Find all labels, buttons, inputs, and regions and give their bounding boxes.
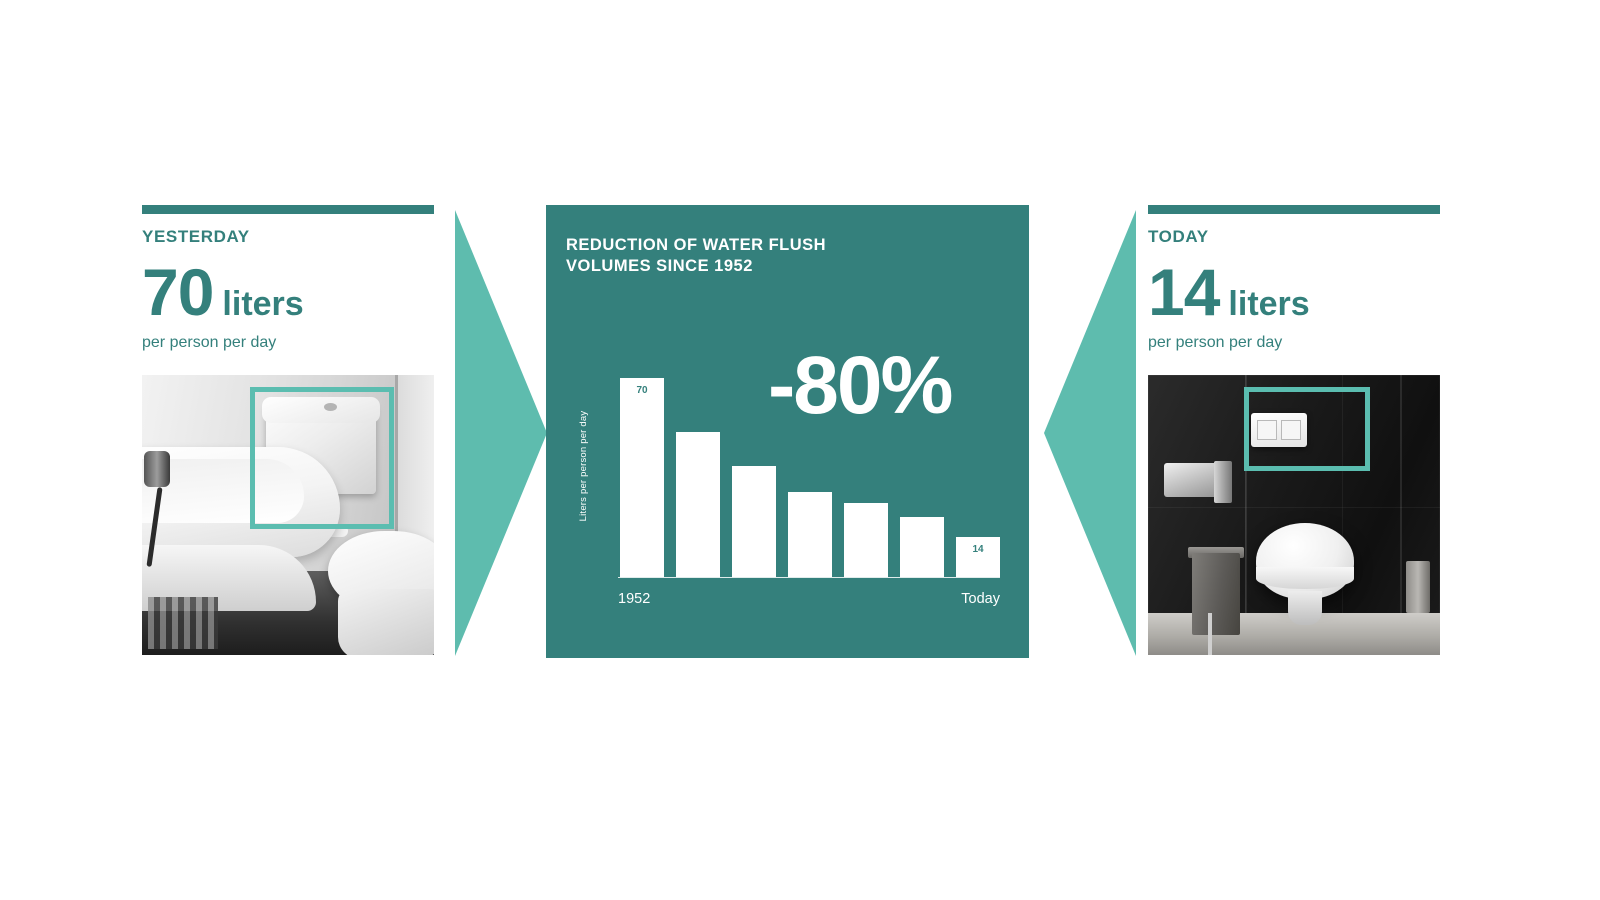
wall-hung-toilet-base: [1288, 591, 1322, 625]
panel-yesterday: YESTERDAY 70 liters per person per day: [142, 205, 434, 655]
x-tick-last: Today: [961, 591, 1000, 607]
bar-slot: [844, 355, 888, 577]
bar-series: 7014: [620, 355, 1000, 577]
bar-value-label: 70: [620, 385, 664, 396]
wall-hung-toilet-lid: [1256, 567, 1354, 589]
photo-tile-seam-2: [1400, 375, 1402, 616]
toilet-bowl: [338, 589, 434, 655]
stat-unit-yesterday: liters: [222, 287, 303, 321]
toilet-brush: [1208, 613, 1212, 655]
accent-bar-yesterday: [142, 205, 434, 214]
chart-panel: REDUCTION OF WATER FLUSH VOLUMES SINCE 1…: [546, 205, 1029, 658]
side-waste-bin: [1406, 561, 1430, 613]
x-axis-line: [618, 577, 1000, 579]
infographic-canvas: YESTERDAY 70 liters per person per day: [0, 0, 1600, 900]
bar: [788, 492, 832, 577]
basin-tap: [144, 451, 170, 487]
bar-value-label: 14: [956, 544, 1000, 555]
highlight-box-cistern: [250, 387, 394, 529]
photo-yesterday-bathroom: [142, 375, 434, 655]
panel-kicker-today: TODAY: [1148, 228, 1440, 245]
y-axis-label: Liters per person per day: [576, 355, 592, 577]
highlight-box-flush-plate: [1244, 387, 1370, 471]
bar: [732, 466, 776, 577]
bar-slot: [900, 355, 944, 577]
bar-slot: 14: [956, 355, 1000, 577]
bar: [900, 517, 944, 577]
bar-slot: [732, 355, 776, 577]
bar-chart-plot: Liters per person per day 7014 1952 Toda…: [582, 355, 1006, 577]
arrow-left-icon: [1044, 210, 1136, 656]
waste-bin: [1192, 553, 1240, 635]
panel-kicker-yesterday: YESTERDAY: [142, 228, 434, 245]
accent-bar-today: [1148, 205, 1440, 214]
stat-yesterday: 70 liters: [142, 259, 434, 325]
x-axis-tick-labels: 1952 Today: [618, 591, 1000, 607]
stat-today: 14 liters: [1148, 259, 1440, 325]
arrow-right-icon: [455, 210, 547, 656]
stat-value-yesterday: 70: [142, 259, 213, 325]
bar-slot: 70: [620, 355, 664, 577]
photo-today-bathroom: [1148, 375, 1440, 655]
stat-subtitle-today: per person per day: [1148, 334, 1440, 352]
stat-value-today: 14: [1148, 259, 1219, 325]
bar-slot: [788, 355, 832, 577]
bar-slot: [676, 355, 720, 577]
bar: 14: [956, 537, 1000, 577]
x-tick-first: 1952: [618, 591, 650, 607]
stat-unit-today: liters: [1228, 287, 1309, 321]
basin-pipes: [148, 597, 218, 649]
bar: 70: [620, 378, 664, 577]
bar: [676, 432, 720, 577]
bar: [844, 503, 888, 577]
stat-subtitle-yesterday: per person per day: [142, 334, 434, 352]
panel-today: TODAY 14 liters per person per day: [1148, 205, 1440, 655]
chart-title: REDUCTION OF WATER FLUSH VOLUMES SINCE 1…: [566, 235, 996, 278]
paper-holder-arm: [1214, 461, 1232, 503]
